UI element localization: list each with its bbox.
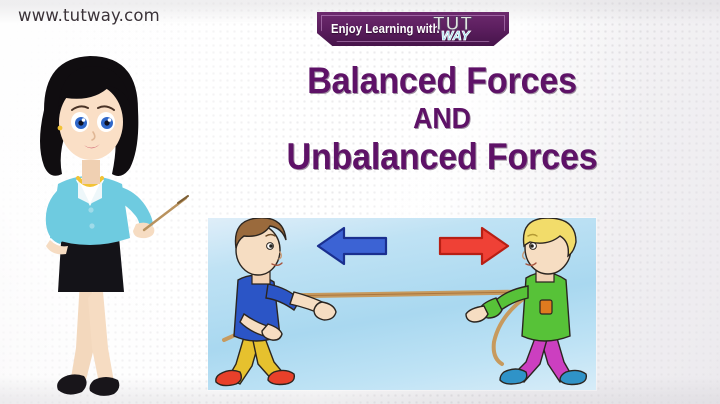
teacher-button-2 [89,223,94,228]
teacher-eye-glint-left [82,118,86,122]
tutway-logo: TUT WAY [431,13,503,46]
site-watermark: www.tutway.com [18,6,160,25]
right-boy-pocket [540,300,552,314]
boy-pulling-left [216,218,336,386]
left-boy-shoe-back [216,370,242,385]
right-boy-nose [523,252,525,259]
teacher-character [18,48,190,404]
title-line-3: Unbalanced Forces [249,138,635,175]
title-line-2: AND [249,105,635,134]
teacher-leg-right [88,280,114,388]
teacher-shoe-left [57,374,86,394]
banner-label: Enjoy Learning with [331,22,440,36]
teacher-button-1 [88,207,93,212]
blue-left-arrow [318,228,386,264]
right-boy-pupil [530,244,534,248]
left-boy-shoe-front [268,370,294,384]
left-boy-hand [314,302,336,320]
teacher-neck [82,160,100,184]
enjoy-learning-banner: Enjoy Learning with TUT WAY [317,12,509,46]
title-line-1: Balanced Forces [249,62,635,99]
pointer-stick-tip [178,196,188,203]
left-boy-pupil [269,244,273,248]
teacher-eye-glint-right [108,118,112,122]
tug-of-war-illustration [208,218,596,390]
teacher-earring [58,126,63,131]
right-boy-hand [466,306,488,322]
right-boy-shoe-front [500,369,527,384]
teacher-shoe-right [90,377,120,396]
red-right-arrow [440,228,508,264]
logo-way-text: WAY [441,28,470,43]
slide-root: www.tutway.com Enjoy Learning with TUT W… [0,0,720,404]
right-boy-shoe-back [560,370,586,384]
page-title: Balanced Forces AND Unbalanced Forces [232,62,652,175]
